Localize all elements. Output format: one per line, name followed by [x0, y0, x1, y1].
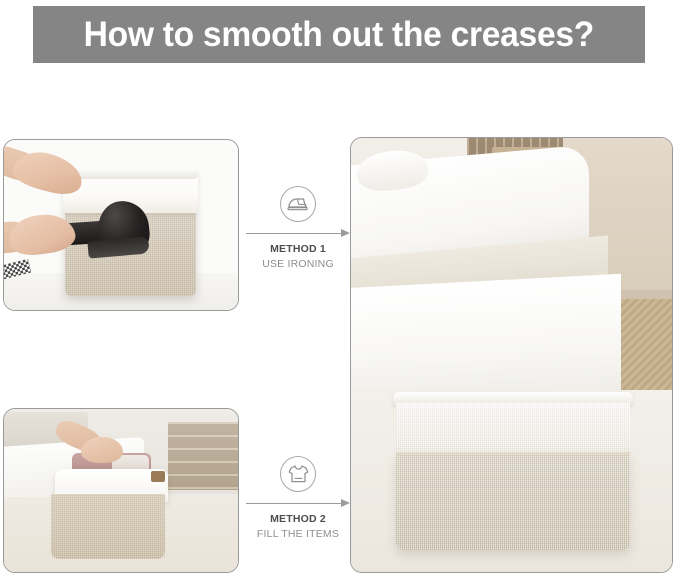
arrow-line: [246, 233, 344, 234]
basket-white-cuff: [396, 403, 630, 455]
iron-icon: [280, 186, 316, 222]
basket-rim: [61, 167, 199, 179]
method-arrow: [246, 498, 350, 508]
page-title: How to smooth out the creases?: [84, 15, 594, 55]
result-scene: [351, 138, 672, 572]
filling-scene: [4, 409, 238, 572]
hand: [81, 437, 123, 463]
method-block-2: METHOD 2 FILL THE ITEMS: [246, 456, 350, 540]
arrow-line: [246, 503, 344, 504]
photo-panel-ironing: [3, 139, 239, 311]
header-banner: How to smooth out the creases?: [33, 6, 645, 63]
method-description: FILL THE ITEMS: [246, 528, 350, 540]
method-description: USE IRONING: [246, 258, 350, 270]
arrow-head: [341, 499, 350, 507]
basket-linen-body: [396, 455, 630, 550]
wooden-dresser: [168, 422, 238, 490]
method-block-1: METHOD 1 USE IRONING: [246, 186, 350, 270]
tshirt-icon: [280, 456, 316, 492]
photo-panel-filling: [3, 408, 239, 573]
basket-linen-body: [51, 494, 166, 559]
arrow-head: [341, 229, 350, 237]
ironing-scene: [4, 140, 238, 310]
method-name: METHOD 1: [246, 243, 350, 255]
leather-tag: [151, 471, 165, 482]
method-name: METHOD 2: [246, 513, 350, 525]
method-arrow: [246, 228, 350, 238]
photo-panel-result: [350, 137, 673, 573]
